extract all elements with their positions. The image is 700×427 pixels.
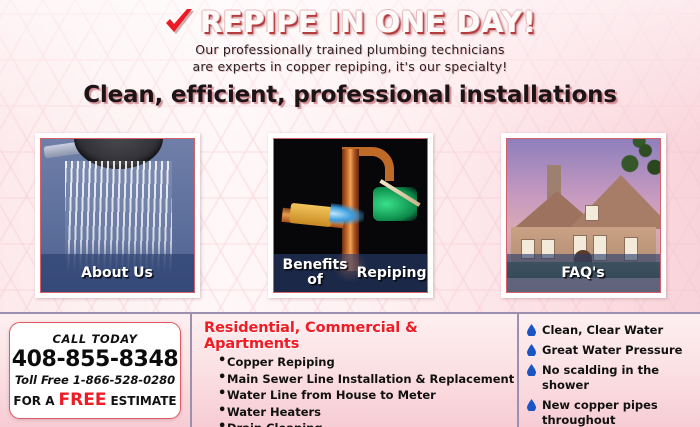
card-label-about-us: About Us [41,254,194,292]
header: REPIPE IN ONE DAY! Our professionally tr… [0,4,700,108]
list-item[interactable]: Water Heaters [218,404,517,421]
list-item: Clean, Clear Water [526,323,700,338]
toll-free-number[interactable]: Toll Free 1-866-528-0280 [15,373,175,387]
bottom-info-band: CALL TODAY 408-855-8348 Toll Free 1-866-… [0,312,700,427]
card-inner: FAQ's [506,138,661,293]
benefit-text: New copper pipes throughout [542,398,658,427]
red-checkmark-icon [164,8,194,36]
tagline: Clean, efficient, professional installat… [0,82,700,108]
phone-number[interactable]: 408-855-8348 [12,347,179,372]
card-label-line-2: Repiping [357,266,427,281]
benefits-section: Clean, Clear Water Great Water Pressure … [517,314,700,427]
water-drop-icon [527,364,536,376]
card-benefits-of-repiping[interactable]: Benefits of Repiping [268,133,433,298]
card-about-us[interactable]: About Us [35,133,200,298]
card-label-benefits-of-repiping: Benefits of Repiping [274,254,427,292]
page-root: REPIPE IN ONE DAY! Our professionally tr… [0,0,700,427]
list-item: No scalding in the shower [526,363,700,393]
divider-vertical-right [517,314,519,427]
divider-vertical-left [190,314,192,427]
services-heading: Residential, Commercial & Apartments [204,320,517,352]
services-section: Residential, Commercial & Apartments Cop… [190,314,517,427]
benefits-list: Clean, Clear Water Great Water Pressure … [526,323,700,427]
list-item: Great Water Pressure [526,343,700,358]
list-item[interactable]: Main Sewer Line Installation & Replaceme… [218,371,517,388]
list-item[interactable]: Drain Cleaning [218,420,517,427]
list-item[interactable]: Copper Repiping [218,354,517,371]
benefit-text: Great Water Pressure [542,343,682,357]
subtitle-line-1: Our professionally trained plumbing tech… [0,43,700,57]
card-inner: Benefits of Repiping [273,138,428,293]
call-today-label: CALL TODAY [52,332,137,346]
card-faqs[interactable]: FAQ's [501,133,666,298]
list-item[interactable]: Water Line from House to Meter [218,387,517,404]
subtitle-line-2: are experts in copper repiping, it's our… [0,60,700,74]
contact-box[interactable]: CALL TODAY 408-855-8348 Toll Free 1-866-… [9,322,181,419]
card-inner: About Us [40,138,195,293]
benefit-text: Clean, Clear Water [542,323,663,337]
benefit-text: No scalding in the shower [542,363,659,392]
headline-row: REPIPE IN ONE DAY! [0,4,700,40]
page-title: REPIPE IN ONE DAY! [200,5,536,39]
free-estimate-line: FOR A FREE ESTIMATE [13,390,176,410]
water-drop-icon [527,324,536,336]
card-label-line-1: Benefits of [274,258,357,288]
card-label-faqs: FAQ's [507,254,660,292]
water-drop-icon [527,399,536,411]
estimate-prefix: FOR A [13,394,54,408]
estimate-suffix: ESTIMATE [110,394,176,408]
list-item: New copper pipes throughout [526,398,700,427]
services-list: Copper Repiping Main Sewer Line Installa… [204,354,517,427]
estimate-free-word: FREE [59,390,107,410]
water-drop-icon [527,344,536,356]
nav-card-row: About Us Benefits of Repiping [0,133,700,298]
